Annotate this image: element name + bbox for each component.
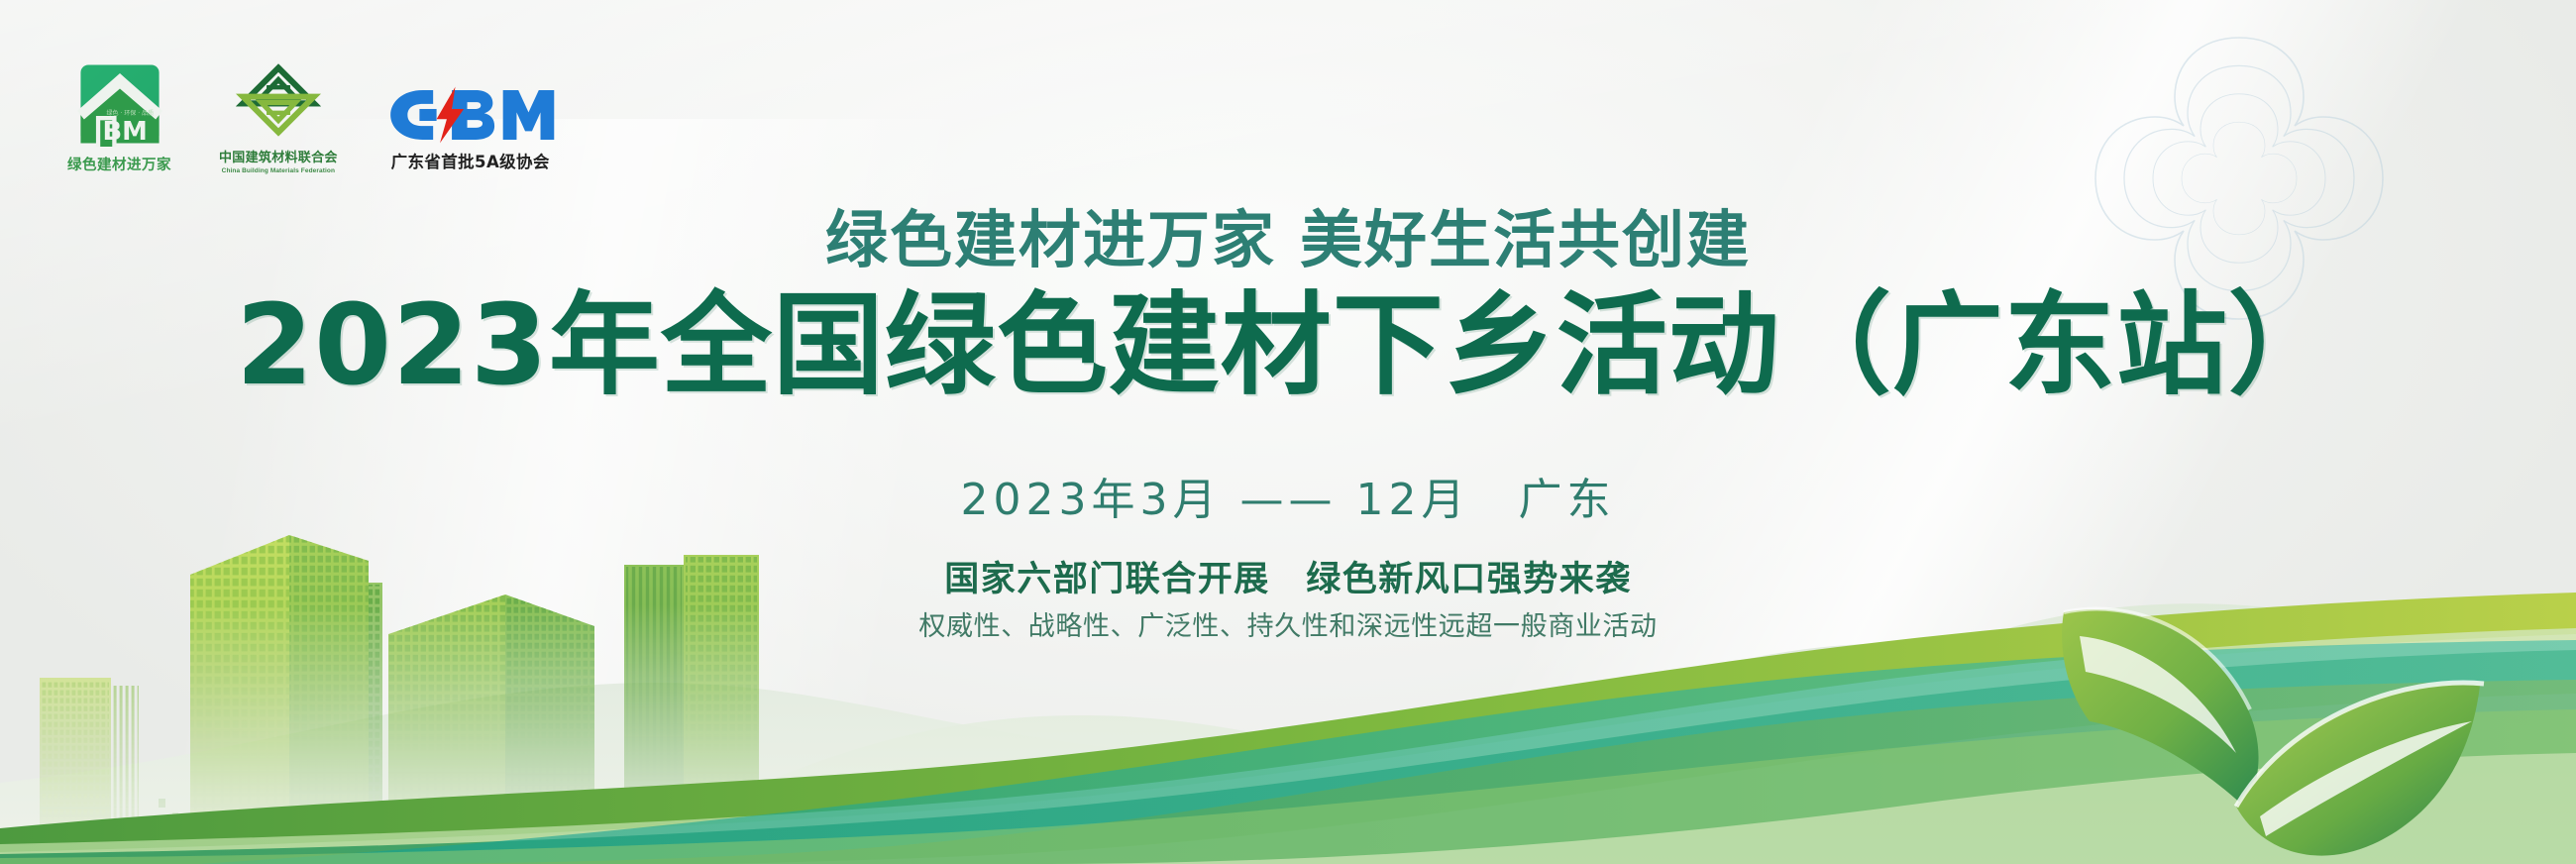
logo-green-building-material-home[interactable]: 绿色 · 环保 · 品质 BM 绿色建材进万家 (67, 61, 171, 174)
cbmf-mountain-icon (236, 59, 321, 141)
logo-caption-green-building-home: 绿色建材进万家 (67, 154, 171, 174)
logo-caption-cbmf-en: China Building Materials Federation (222, 167, 335, 174)
house-bm-icon: 绿色 · 环保 · 品质 BM (77, 61, 162, 147)
banner-tagline: 国家六部门联合开展 绿色新风口强势来袭 (0, 551, 2576, 601)
event-banner: 绿色 · 环保 · 品质 BM 绿色建材进万家 中国建筑材料联合会 (0, 0, 2576, 864)
banner-footnote: 权威性、战略性、广泛性、持久性和深远性远超一般商业活动 (0, 604, 2576, 643)
banner-subtitle: 绿色建材进万家 美好生活共创建 (0, 190, 2576, 280)
logo-strip: 绿色 · 环保 · 品质 BM 绿色建材进万家 中国建筑材料联合会 (67, 59, 556, 174)
logo-caption-cbma: 广东省首批5A级协会 (391, 149, 550, 172)
bm-mark-text: BM (102, 117, 147, 147)
leaf-emblem-icon (2062, 609, 2484, 856)
logo-caption-cbmf-cn: 中国建筑材料联合会 (219, 147, 338, 165)
bm-mark-subtext: 绿色 · 环保 · 品质 (106, 109, 154, 117)
cbma-wordmark-icon (385, 84, 556, 146)
logo-cbma-guangdong[interactable]: 广东省首批5A级协会 (385, 84, 556, 174)
logo-china-building-materials-federation[interactable]: 中国建筑材料联合会 China Building Materials Feder… (219, 59, 338, 174)
banner-headline: 2023年全国绿色建材下乡活动（广东站） (0, 285, 2576, 407)
banner-date-location: 2023年3月 —— 12月 广东 (0, 464, 2576, 527)
